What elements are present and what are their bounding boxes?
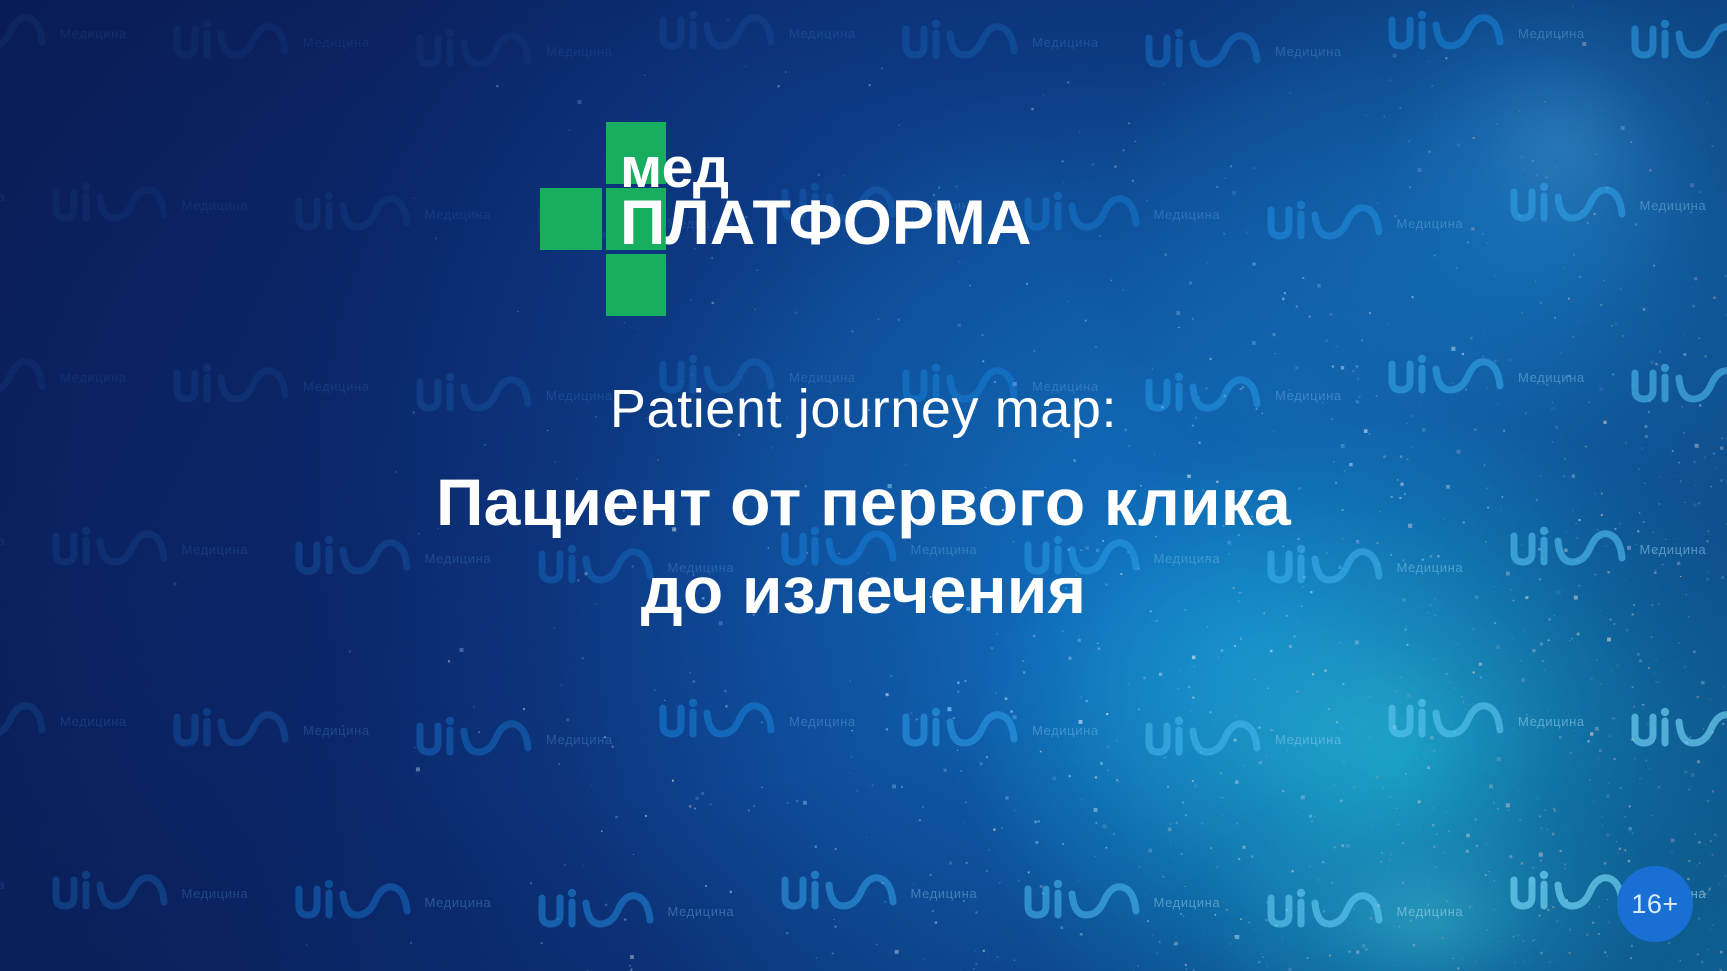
watermark-caption: Медицина [1518, 26, 1585, 41]
slide-headline: Пациент от первого клика до излечения [0, 459, 1727, 633]
watermark-logo: Медицина [295, 191, 492, 237]
presentation-slide: Медицина Медицина Медицина Медицина Меди… [0, 0, 1727, 971]
watermark-logo: Медицина [0, 10, 127, 56]
watermark-caption: Медицина [425, 207, 492, 222]
slide-subtitle: Patient journey map: [0, 380, 1727, 439]
watermark-caption: Медицина [546, 732, 613, 747]
watermark-logo: Медицина [416, 28, 613, 74]
watermark-logo: Медицина [1024, 879, 1221, 925]
watermark-logo: Медицина [52, 182, 249, 228]
watermark-caption: Медицина [1275, 44, 1342, 59]
brand-logo-line2: ПЛАТФОРМА [620, 195, 1032, 253]
watermark-caption: Медицина [1640, 198, 1707, 213]
watermark-caption: Медицина [789, 26, 856, 41]
watermark-logo: Медицина [1267, 200, 1464, 246]
watermark-logo: Медицина [1145, 28, 1342, 74]
watermark-logo: Медицина [902, 19, 1099, 65]
watermark-caption: Медицина [182, 198, 249, 213]
watermark-caption: Медицина [0, 189, 5, 204]
slide-headline-line2: до излечения [0, 547, 1727, 634]
watermark-caption: Медицина [1397, 216, 1464, 231]
watermark-logo: Медицина [1388, 698, 1585, 744]
watermark-logo: Медицина [659, 698, 856, 744]
watermark-logo: Медицина [295, 879, 492, 925]
watermark-caption: Медицина [789, 714, 856, 729]
watermark-logo: Медицина [173, 707, 370, 753]
watermark-caption: Медицина [303, 723, 370, 738]
brand-logo: мед ПЛАТФОРМА [528, 122, 1168, 337]
watermark-caption: Медицина [303, 35, 370, 50]
watermark-caption: Медицина [668, 904, 735, 919]
watermark-logo: Медицина [1631, 19, 1727, 65]
watermark-logo: Медицина [1388, 10, 1585, 56]
watermark-logo: Медицина [659, 10, 856, 56]
watermark-logo: Медицина [173, 19, 370, 65]
watermark-logo: Медицина [0, 173, 5, 219]
watermark-logo: Медицина [538, 888, 735, 934]
watermark-caption: Медицина [182, 886, 249, 901]
watermark-logo: Медицина [1145, 716, 1342, 762]
watermark-caption: Медицина [60, 26, 127, 41]
watermark-caption: Медицина [1518, 714, 1585, 729]
watermark-caption: Медицина [546, 44, 613, 59]
watermark-caption: Медицина [1154, 895, 1221, 910]
watermark-caption: Медицина [0, 877, 5, 892]
watermark-logo: Медицина [52, 870, 249, 916]
watermark-caption: Медицина [911, 886, 978, 901]
watermark-logo: Медицина [0, 698, 127, 744]
watermark-caption: Медицина [1032, 35, 1099, 50]
age-rating-badge: 16+ [1617, 866, 1693, 942]
watermark-caption: Медицина [60, 714, 127, 729]
watermark-caption: Медицина [1397, 904, 1464, 919]
watermark-logo: Медицина [416, 716, 613, 762]
watermark-logo: Медицина [1631, 707, 1727, 753]
title-block: Patient journey map: Пациент от первого … [0, 380, 1727, 634]
watermark-caption: Медицина [1275, 732, 1342, 747]
watermark-logo: Медицина [0, 861, 5, 907]
watermark-caption: Медицина [425, 895, 492, 910]
watermark-logo: Медицина [781, 870, 978, 916]
watermark-logo: Медицина [1267, 888, 1464, 934]
brand-logo-text: мед ПЛАТФОРМА [620, 144, 1032, 253]
watermark-caption: Медицина [1032, 723, 1099, 738]
watermark-logo: Медицина [1510, 182, 1707, 228]
watermark-logo: Медицина [902, 707, 1099, 753]
brand-logo-line1: мед [620, 144, 1032, 193]
slide-headline-line1: Пациент от первого клика [0, 459, 1727, 546]
